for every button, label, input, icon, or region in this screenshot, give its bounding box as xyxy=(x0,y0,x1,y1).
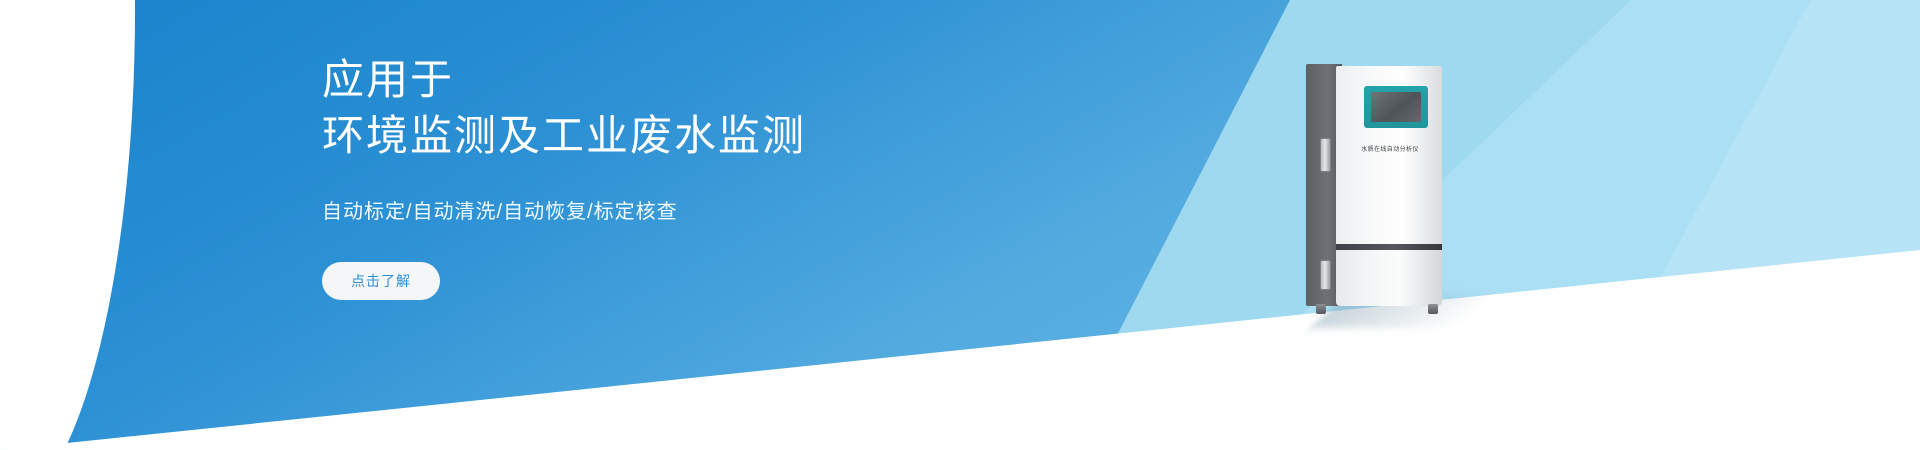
headline-line-1: 应用于 xyxy=(322,52,1082,108)
water-quality-analyzer-image: 水质在线自动分析仪 xyxy=(1306,64,1474,314)
caster-wheel-left xyxy=(1316,304,1326,314)
banner-copy: 应用于 环境监测及工业废水监测 自动标定/自动清洗/自动恢复/标定核查 点击了解 xyxy=(322,52,1082,300)
cabinet-lower-body xyxy=(1336,250,1442,306)
upper-door-handle xyxy=(1320,138,1331,172)
headline-line-2: 环境监测及工业废水监测 xyxy=(322,108,1082,164)
lower-door-handle xyxy=(1320,260,1331,290)
hero-banner: 应用于 环境监测及工业废水监测 自动标定/自动清洗/自动恢复/标定核查 点击了解… xyxy=(0,0,1920,450)
caster-wheel-right xyxy=(1428,304,1438,314)
learn-more-button[interactable]: 点击了解 xyxy=(322,262,440,300)
display-screen xyxy=(1371,92,1421,122)
device-label: 水质在线自动分析仪 xyxy=(1342,144,1438,153)
display-bezel xyxy=(1364,86,1428,128)
banner-subtitle: 自动标定/自动清洗/自动恢复/标定核查 xyxy=(322,198,1082,226)
